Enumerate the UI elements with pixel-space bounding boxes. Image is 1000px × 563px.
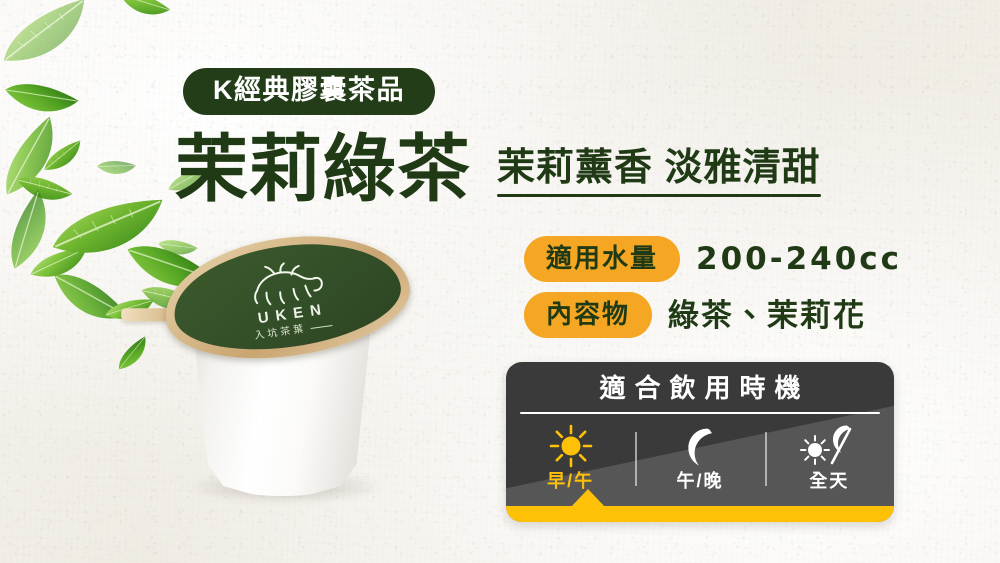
timing-option-label: 全天	[809, 472, 849, 490]
sun-icon	[548, 423, 594, 469]
timing-panel: 適合飲用時機	[506, 362, 894, 522]
timing-options: 早/午 午/晚	[506, 414, 894, 508]
spec-value-water-volume: 200-240cc	[696, 244, 902, 275]
product-banner: UKEN 入坑茶葉 K經典膠囊茶品 茉莉綠茶 茉莉薰香 淡雅清甜 適用水量 20…	[0, 0, 1000, 563]
subtitle-underline	[497, 194, 821, 197]
product-capsule: UKEN 入坑茶葉	[150, 238, 450, 538]
timing-option-noon-night[interactable]: 午/晚	[635, 414, 764, 508]
active-option-marker	[570, 489, 606, 508]
spec-row-ingredients: 內容物 綠茶、茉莉花	[524, 292, 866, 338]
spec-value-ingredients: 綠茶、茉莉花	[668, 300, 866, 331]
series-badge: K經典膠囊茶品	[183, 68, 435, 115]
subtitle-wrap: 茉莉薰香 淡雅清甜	[497, 149, 821, 203]
spec-tag-ingredients: 內容物	[524, 292, 652, 338]
page-subtitle: 茉莉薰香 淡雅清甜	[497, 149, 821, 189]
moon-icon	[679, 423, 721, 469]
sun-moon-slash-icon	[798, 423, 860, 469]
timing-option-label: 午/晚	[676, 472, 723, 490]
capsule-lid: UKEN 入坑茶葉	[157, 221, 417, 372]
timing-panel-title: 適合飲用時機	[506, 362, 894, 412]
spec-row-water-volume: 適用水量 200-240cc	[524, 236, 902, 282]
timing-option-all-day[interactable]: 全天	[765, 414, 894, 508]
panel-footer-bar	[506, 506, 894, 522]
page-title: 茉莉綠茶	[175, 136, 471, 203]
spec-tag-water-volume: 適用水量	[524, 236, 680, 282]
timing-option-label: 早/午	[547, 472, 594, 490]
title-row: 茉莉綠茶 茉莉薰香 淡雅清甜	[175, 136, 821, 203]
